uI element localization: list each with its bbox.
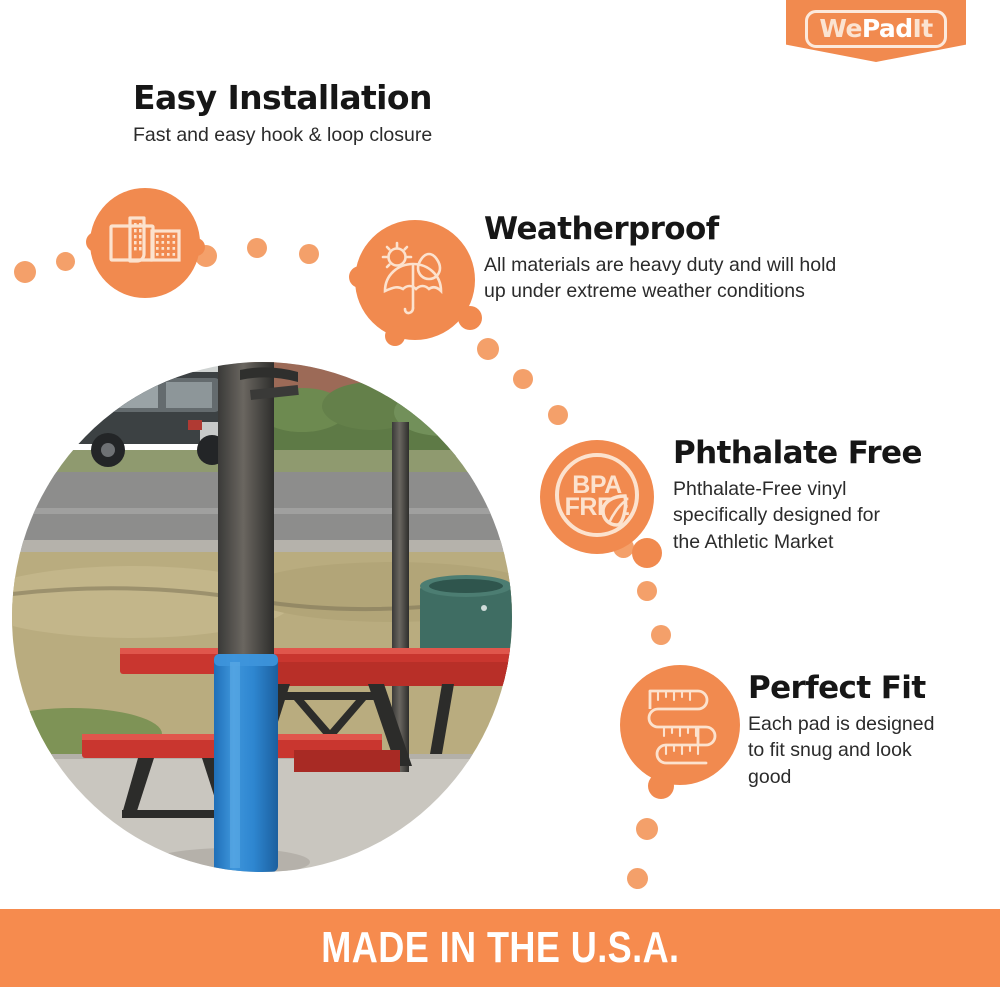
logo-text-pad: Pad: [862, 14, 913, 43]
trail-dot: [56, 252, 75, 271]
feature-phthalate-free: Phthalate Free Phthalate-Free vinyl spec…: [673, 435, 983, 555]
feature-body: All materials are heavy duty and will ho…: [484, 252, 904, 305]
umbrella-sun-raindrop-icon: [355, 220, 475, 340]
trail-dot: [548, 405, 568, 425]
trail-dot: [637, 581, 657, 601]
feature-body: Phthalate-Free vinyl specifically design…: [673, 476, 983, 555]
feature-title: Easy Installation: [133, 78, 432, 117]
feature-title: Perfect Fit: [748, 670, 998, 706]
feature-weatherproof: Weatherproof All materials are heavy dut…: [484, 211, 904, 305]
trail-dot: [299, 244, 319, 264]
logo-text-it: It: [913, 14, 933, 43]
trail-dot: [636, 818, 658, 840]
feature-perfect-fit: Perfect Fit Each pad is designed to fit …: [748, 670, 998, 790]
trail-dot: [651, 625, 671, 645]
logo-box: WePadIt: [805, 10, 946, 48]
made-in-usa-banner: MADE IN THE U.S.A.: [0, 909, 1000, 987]
brand-logo-banner: WePadIt: [786, 0, 966, 62]
product-photo-pole-pad: [12, 362, 512, 872]
velcro-hook-loop-icon: [90, 188, 200, 298]
bpa-free-leaf-icon: BPA FREE: [540, 440, 654, 554]
trail-dot: [247, 238, 267, 258]
made-in-usa-text: MADE IN THE U.S.A.: [321, 923, 679, 973]
trail-dot: [14, 261, 36, 283]
measuring-tape-icon: [620, 665, 740, 785]
trail-dot: [477, 338, 499, 360]
infographic-page: WePadIt: [0, 0, 1000, 987]
feature-easy-installation: Easy Installation Fast and easy hook & l…: [133, 78, 432, 148]
feature-body: Fast and easy hook & loop closure: [133, 122, 432, 148]
feature-body: Each pad is designed to fit snug and loo…: [748, 711, 998, 790]
trail-dot: [627, 868, 648, 889]
trail-dot: [513, 369, 533, 389]
feature-title: Weatherproof: [484, 211, 904, 247]
logo-text-we: We: [819, 14, 861, 43]
feature-title: Phthalate Free: [673, 435, 983, 471]
